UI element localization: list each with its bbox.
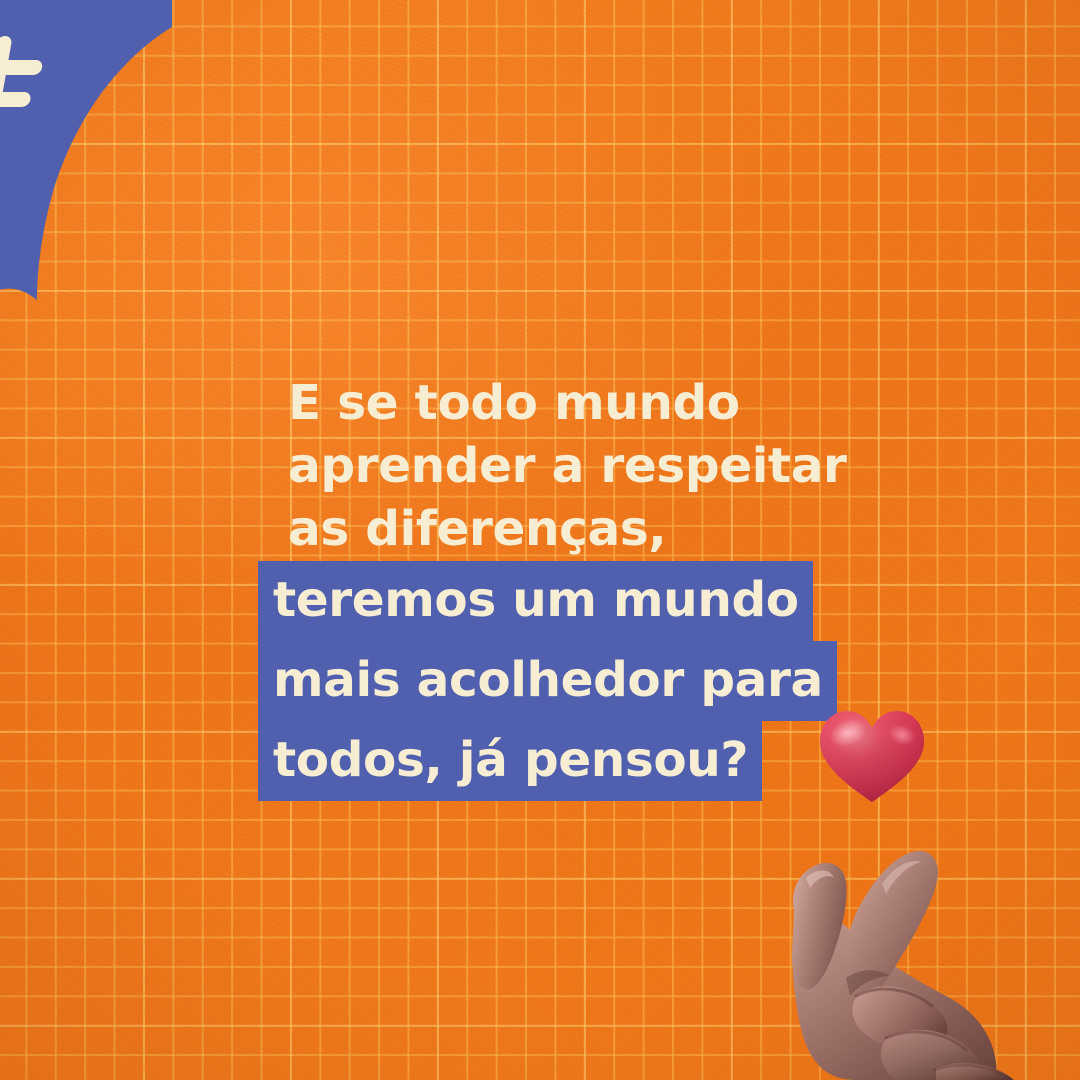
quote-line-4: teremos um mundo [273,561,873,641]
quote-block: E se todo mundo aprender a respeitar as … [273,372,873,801]
quote-line-3: as diferenças, [273,498,873,561]
quote-line-5: mais acolhedor para [273,641,873,721]
social-post-canvas: E se todo mundo aprender a respeitar as … [0,0,1080,1080]
finger-heart-hand-icon [786,818,1080,1080]
heart-icon [816,705,928,807]
quote-line-6: todos, já pensou? [273,721,873,801]
quote-line-2: aprender a respeitar [273,435,873,498]
quote-line-1: E se todo mundo [273,372,873,435]
